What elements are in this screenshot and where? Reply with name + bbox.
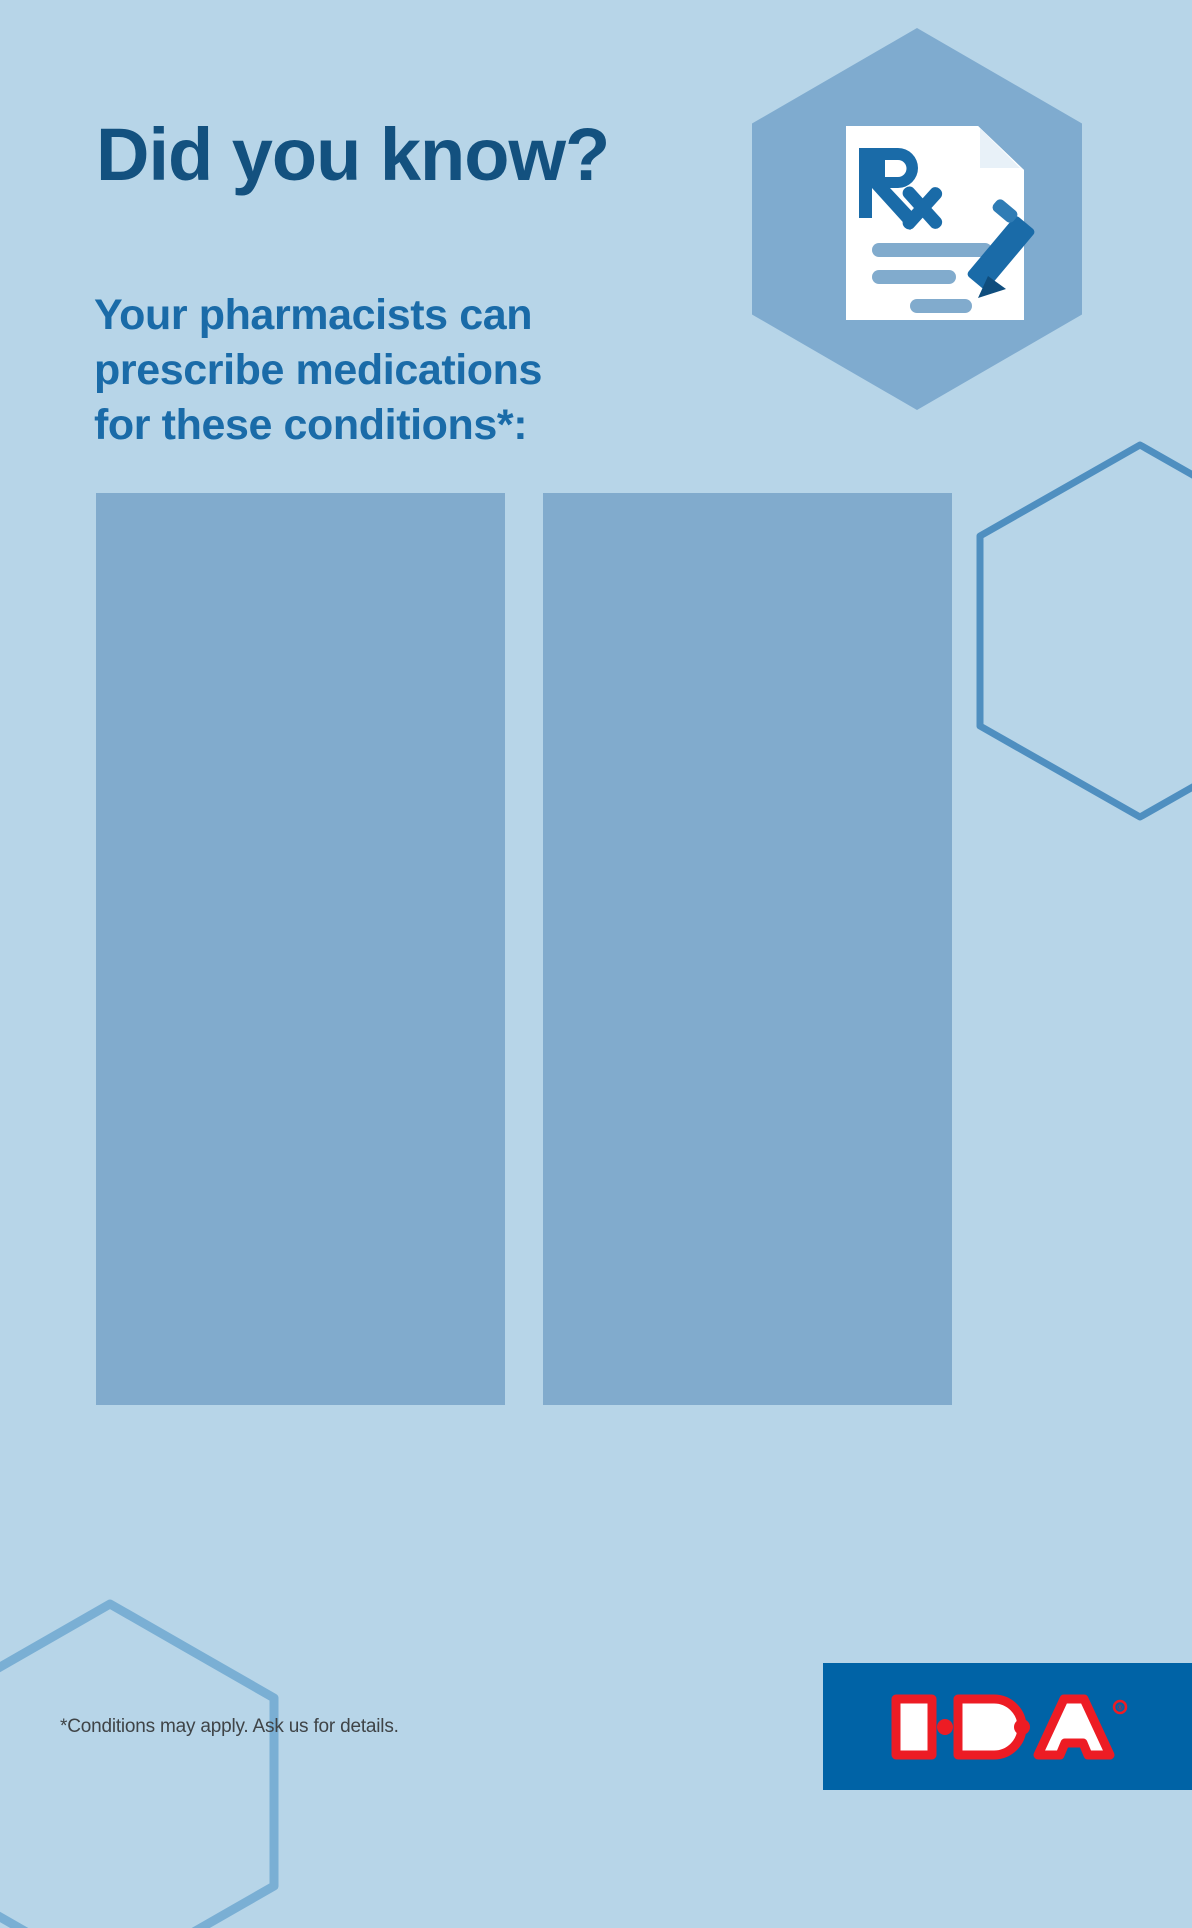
subheading-line-3: for these conditions*: — [94, 398, 542, 453]
conditions-column-left — [96, 493, 505, 1405]
subheading: Your pharmacists can prescribe medicatio… — [94, 288, 542, 453]
prescription-document-icon — [838, 118, 1038, 328]
hexagon-outline-bottom-icon — [0, 1598, 280, 1928]
subheading-line-2: prescribe medications — [94, 343, 542, 398]
page-title: Did you know? — [96, 118, 609, 192]
poster-canvas: Did you know? Your pharmacists can presc… — [0, 0, 1192, 1790]
footnote-disclaimer: *Conditions may apply. Ask us for detail… — [60, 1716, 399, 1738]
ida-logo: ® — [823, 1663, 1192, 1790]
registered-mark: ® — [1117, 1704, 1123, 1712]
hexagon-outline-right-icon — [975, 440, 1192, 822]
conditions-column-right — [543, 493, 952, 1405]
subheading-line-1: Your pharmacists can — [94, 288, 542, 343]
